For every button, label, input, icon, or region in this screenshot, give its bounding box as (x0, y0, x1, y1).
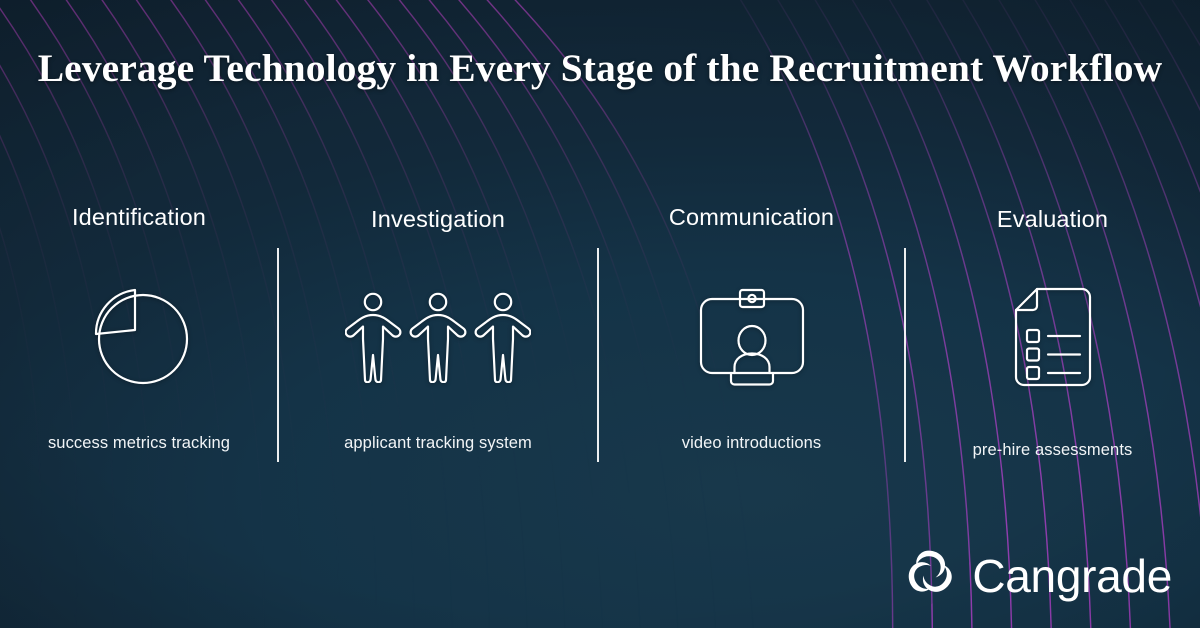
stage-heading: Communication (598, 204, 905, 231)
cangrade-logo: Cangrade (902, 545, 1172, 606)
checklist-document-icon (905, 282, 1200, 392)
stage-columns: Identification success metrics tracking … (0, 0, 1200, 628)
video-monitor-icon (598, 282, 905, 392)
stage-column-investigation: Investigation appl (278, 190, 598, 480)
stage-heading: Investigation (278, 206, 598, 233)
stage-column-identification: Identification success metrics tracking (0, 190, 278, 480)
pie-chart-icon (0, 282, 278, 392)
stage-caption: video introductions (598, 434, 905, 453)
column-divider (277, 248, 279, 462)
people-group-icon (278, 282, 598, 392)
stage-heading: Evaluation (905, 206, 1200, 233)
stage-column-evaluation: Evaluation pre-hire assessments (905, 190, 1200, 480)
stage-caption: pre-hire assessments (905, 441, 1200, 460)
infographic-canvas: Leverage Technology in Every Stage of th… (0, 0, 1200, 628)
stage-column-communication: Communication video introductions (598, 190, 905, 480)
stage-caption: applicant tracking system (278, 434, 598, 453)
cangrade-wordmark: Cangrade (972, 553, 1172, 599)
column-divider (904, 248, 906, 462)
stage-heading: Identification (0, 204, 278, 231)
cangrade-triskelion-logo-icon (902, 545, 958, 606)
column-divider (597, 248, 599, 462)
stage-caption: success metrics tracking (0, 434, 278, 453)
